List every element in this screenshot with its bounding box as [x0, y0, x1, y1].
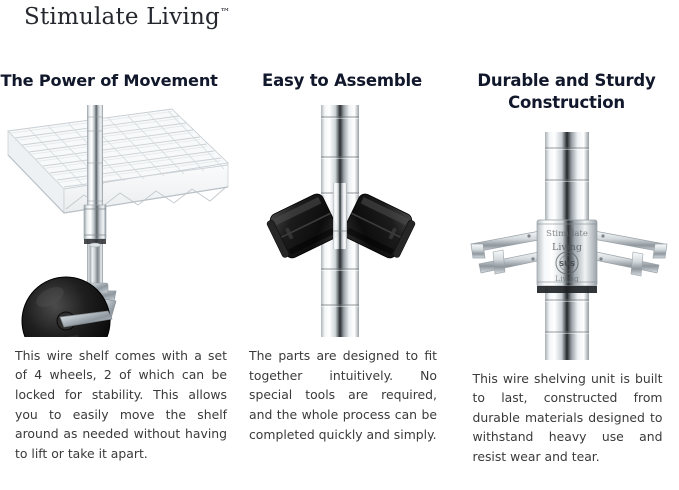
feature-columns: The Power of Movement [0, 70, 679, 467]
feature-column-power-of-movement: The Power of Movement [0, 70, 240, 463]
wire-shelf-mesh [8, 109, 228, 213]
column-heading-power-of-movement: The Power of Movement [0, 70, 231, 92]
collar-badge-text: SUS [559, 260, 575, 268]
brand-name: Stimulate Living [24, 4, 220, 30]
feature-column-easy-to-assemble: Easy to Assemble [240, 70, 450, 444]
post-collar [84, 205, 106, 244]
brand-title: Stimulate Living™ [24, 4, 230, 30]
caster-wheel [22, 277, 116, 337]
column-body-easy-to-assemble: The parts are designed to fit together i… [249, 346, 437, 444]
feature-column-durable-and-sturdy: Durable and Sturdy Construction [450, 70, 679, 467]
collar-brand-top: Stimulate [546, 229, 588, 239]
image-wire-shelf-caster [4, 105, 234, 337]
column-heading-easy-to-assemble: Easy to Assemble [237, 70, 453, 92]
image-pole-with-clips [255, 105, 430, 337]
column-body-durable-and-sturdy: This wire shelving unit is built to last… [473, 369, 663, 467]
collar-brand-mid: Living [552, 242, 582, 253]
trademark-symbol: ™ [220, 7, 230, 18]
collar-brand-bottom: Living [555, 274, 579, 283]
column-body-power-of-movement: This wire shelf comes with a set of 4 wh… [15, 346, 227, 464]
branded-collar: Stimulate Living SUS Living [537, 220, 597, 293]
image-pole-with-collar-brackets: Stimulate Living SUS Living [469, 132, 669, 360]
column-heading-durable-and-sturdy: Durable and Sturdy Construction [444, 70, 679, 115]
pole-collar-brackets-illustration: Stimulate Living SUS Living [469, 132, 669, 360]
pole-with-clips-illustration [255, 105, 430, 337]
wire-shelf-caster-illustration [4, 105, 234, 337]
